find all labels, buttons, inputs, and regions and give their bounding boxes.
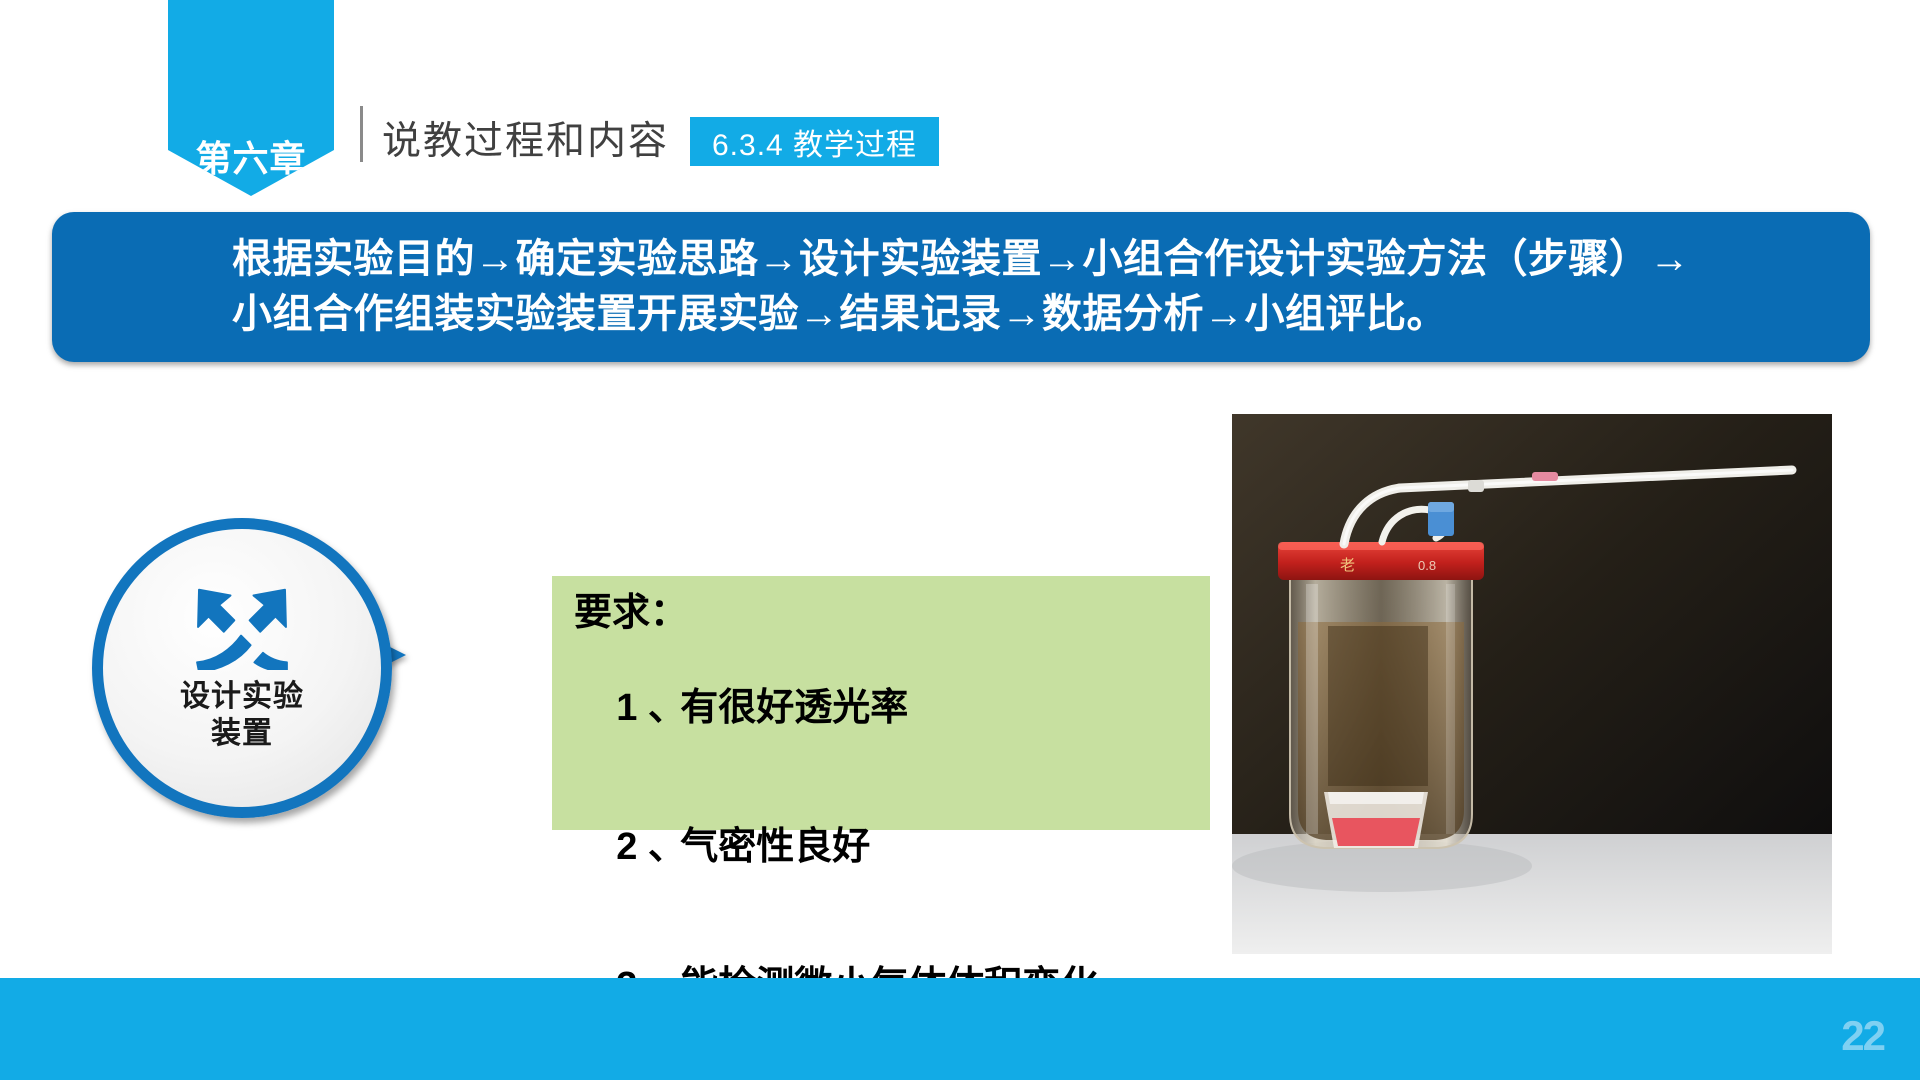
page-number: 22 [1841, 1012, 1884, 1060]
header-subtitle: 说教过程和内容 [382, 110, 669, 166]
shuffle-arrows-icon [189, 584, 295, 670]
process-banner: 根据实验目的→确定实验思路→设计实验装置→小组合作设计实验方法（步骤）→ 小组合… [52, 212, 1870, 362]
requirement-number: 2 、 [616, 824, 680, 870]
slide-header: 第六章 说教过程和内容 6.3.4 教学过程 [0, 0, 1920, 200]
requirements-title: 要求： [574, 590, 1188, 636]
callout-label: 设计实验 装置 [180, 678, 304, 753]
chapter-tab-label: 第六章 [195, 140, 307, 196]
design-apparatus-callout: 设计实验 装置 [92, 518, 512, 818]
requirement-item: 2 、气密性良好 [574, 777, 1188, 916]
requirement-text: 有很好透光率 [680, 687, 908, 729]
experiment-apparatus-photo: 老 0.8 [1232, 414, 1832, 954]
process-banner-text: 根据实验目的→确定实验思路→设计实验装置→小组合作设计实验方法（步骤）→ 小组合… [232, 232, 1690, 342]
footer-bar [0, 978, 1920, 1080]
chapter-tab: 第六章 [168, 0, 334, 196]
section-badge: 6.3.4 教学过程 [690, 117, 939, 166]
svg-text:0.8: 0.8 [1418, 558, 1436, 573]
requirement-item: 1 、有很好透光率 [574, 638, 1188, 777]
requirement-number: 1 、 [616, 685, 680, 731]
header-divider [360, 106, 363, 162]
requirements-box: 要求： 1 、有很好透光率 2 、气密性良好 3 、能检测微小气体体积变化 [552, 576, 1210, 830]
svg-text:老: 老 [1340, 557, 1355, 574]
requirement-text: 气密性良好 [680, 826, 870, 868]
callout-circle: 设计实验 装置 [92, 518, 392, 818]
